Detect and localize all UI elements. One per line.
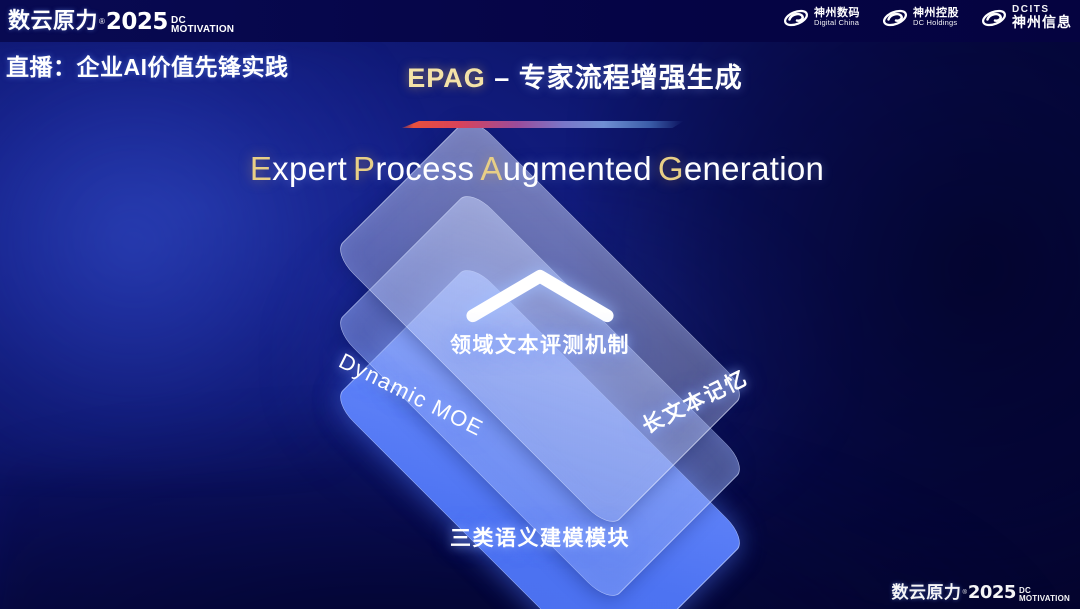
brand-logo: 数云原力 ® 2025 DC MOTIVATION [8,3,234,35]
partner-logo-text: DCITS 神州信息 [1012,5,1072,30]
swirl-icon [882,8,908,28]
footer-watermark-logo: 数云原力 ® 2025 DC MOTIVATION [891,578,1070,603]
brand-logo-cn: 数云原力 [8,3,98,35]
page-title-acronym: EPAG [407,63,486,93]
partner-logo-digital-china: 神州数码 Digital China [783,8,860,28]
subtitle-remainder: eneration [684,150,824,187]
partner-logo-dc-holdings: 神州控股 DC Holdings [882,8,959,28]
brand-logo-registered: ® [99,17,105,26]
isometric-layer-stack: 领域文本评测机制 Dynamic MOE 长文本记忆 三类语义建模模块 [270,234,810,584]
brand-logo-motivation: MOTIVATION [171,25,234,34]
title-divider [396,121,684,131]
brand-logo-year: 2025 [106,9,168,35]
subtitle-initial: E [250,150,272,187]
stack-label-bottom: 三类语义建模模块 [450,522,630,552]
subtitle-remainder: ugmented [503,150,652,187]
watermark-logo-cn: 数云原力 [891,578,961,603]
partner-logo-row: 神州数码 Digital China 神州控股 DC Holdings [783,5,1072,30]
title-divider-bar [396,121,684,128]
subtitle-expansion: ExpertProcessAugmentedGeneration [0,150,1080,188]
watermark-logo-year: 2025 [968,582,1016,603]
slide-canvas: 数云原力 ® 2025 DC MOTIVATION 直播：企业AI价值先锋实践 … [0,0,1080,609]
chevron-up-icon [461,264,619,326]
subtitle-initial: A [480,150,502,187]
subtitle-initial: P [353,150,375,187]
subtitle-word-augmented: Augmented [480,150,652,187]
subtitle-word-generation: Generation [658,150,824,187]
subtitle-remainder: xpert [272,150,347,187]
watermark-logo-motivation: MOTIVATION [1019,595,1070,602]
brand-logo-dc-motivation: DC MOTIVATION [171,16,234,34]
page-title-dash: – [494,63,510,93]
swirl-icon [783,8,809,28]
subtitle-word-expert: Expert [250,150,347,187]
subtitle-initial: G [658,150,684,187]
stack-label-top: 领域文本评测机制 [450,329,630,359]
swirl-icon [981,8,1007,28]
live-stream-title: 直播：企业AI价值先锋实践 [6,48,289,82]
subtitle-remainder: rocess [375,150,474,187]
partner-name-en: DCITS [1012,5,1072,16]
partner-name-cn: 神州信息 [1012,16,1072,31]
subtitle-word-process: Process [353,150,474,187]
partner-name-en: DC Holdings [913,19,959,27]
watermark-logo-registered: ® [962,590,966,596]
watermark-logo-dc-motivation: DC MOTIVATION [1019,587,1070,602]
page-title-chinese: 专家流程增强生成 [519,63,743,93]
partner-name-en: Digital China [814,19,860,27]
partner-logo-dcits: DCITS 神州信息 [981,5,1072,30]
partner-logo-text: 神州控股 DC Holdings [913,8,959,27]
partner-logo-text: 神州数码 Digital China [814,8,860,27]
